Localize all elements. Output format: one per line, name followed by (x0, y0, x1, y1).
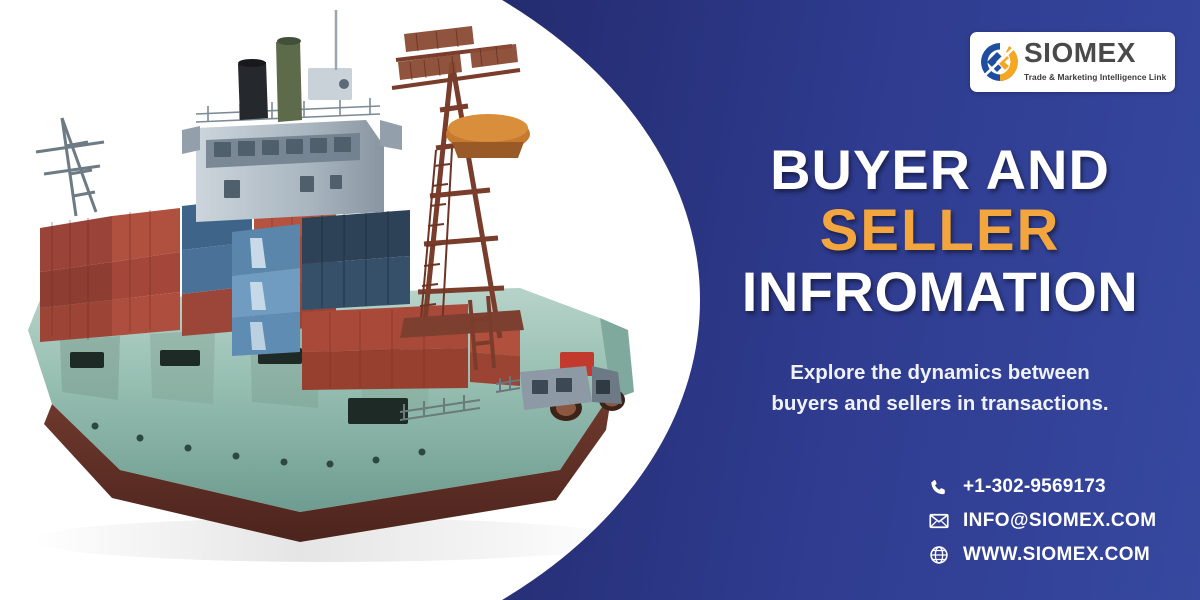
container-stack-right (302, 210, 410, 310)
siomex-logo[interactable]: SIOMEX Trade & Marketing Intelligence Li… (970, 32, 1175, 92)
logo-tagline: Trade & Marketing Intelligence Link (1024, 72, 1166, 82)
promotional-banner: SIOMEX Trade & Marketing Intelligence Li… (0, 0, 1200, 600)
content-column: SIOMEX Trade & Marketing Intelligence Li… (700, 0, 1200, 600)
contact-website-label: WWW.SIOMEX.COM (963, 544, 1150, 566)
subtitle-line-1: Explore the dynamics between (700, 358, 1180, 389)
globe-icon (928, 545, 949, 566)
contact-list: +1-302-9569173 INFO@SIOMEX.COM (928, 476, 1156, 566)
contact-phone-label: +1-302-9569173 (963, 476, 1106, 498)
headline-line-3: INFROMATION (700, 262, 1180, 322)
container-stack-left (40, 208, 180, 342)
logo-wordmark: SIOMEX (1024, 37, 1136, 68)
headline-line-1: BUYER AND (700, 140, 1180, 200)
contact-email[interactable]: INFO@SIOMEX.COM (928, 510, 1156, 532)
phone-icon (928, 477, 949, 498)
ship-aftmast (36, 118, 104, 216)
contact-phone[interactable]: +1-302-9569173 (928, 476, 1156, 498)
contact-website[interactable]: WWW.SIOMEX.COM (928, 544, 1156, 566)
contact-email-label: INFO@SIOMEX.COM (963, 510, 1156, 532)
page-title: BUYER AND SELLER INFROMATION (700, 140, 1180, 322)
headline-line-2: SELLER (700, 200, 1180, 262)
container-stack-center (232, 224, 300, 356)
cargo-ship-illustration (0, 0, 700, 600)
subtitle-line-2: buyers and sellers in transactions. (700, 389, 1180, 420)
logo-text-block: SIOMEX Trade & Marketing Intelligence Li… (1022, 39, 1166, 85)
subtitle: Explore the dynamics between buyers and … (700, 358, 1180, 420)
email-icon (928, 511, 949, 532)
siomex-circular-chevron-icon (978, 40, 1022, 84)
ship-funnel (276, 40, 302, 122)
